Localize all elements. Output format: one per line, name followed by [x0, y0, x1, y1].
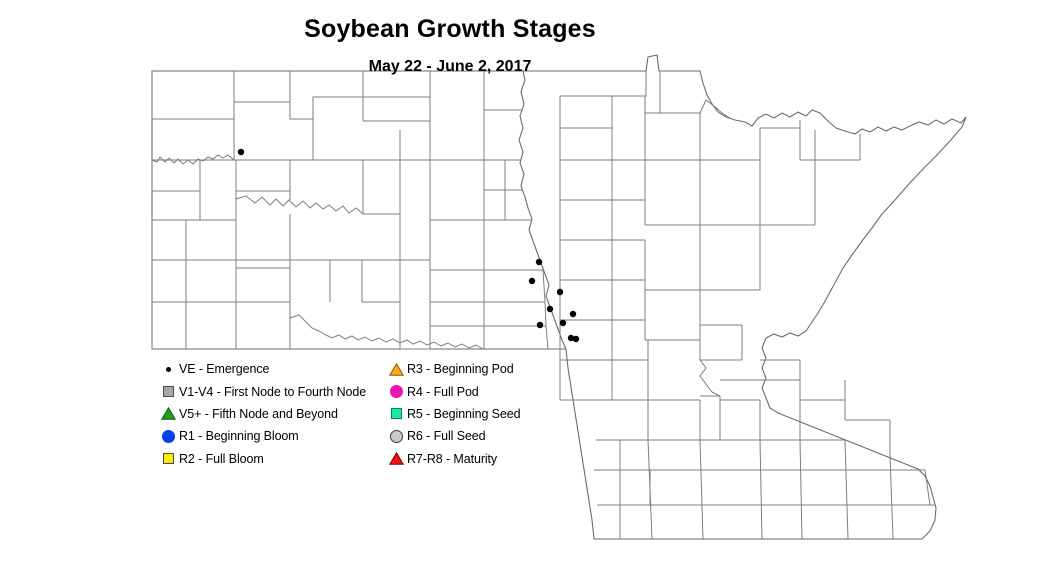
legend-item-label: R7-R8 - Maturity — [407, 452, 497, 466]
legend-symbol-triangle — [389, 363, 404, 376]
legend-symbol-circle — [390, 430, 403, 443]
legend-symbol-triangle-icon — [385, 360, 407, 378]
map-data-point — [536, 259, 542, 265]
legend-symbol-circle — [390, 385, 403, 398]
legend-symbol-dot-icon — [157, 360, 179, 378]
legend-item-label: R5 - Beginning Seed — [407, 407, 520, 421]
legend-item-label: VE - Emergence — [179, 362, 269, 376]
map-data-point — [547, 306, 553, 312]
map-data-point — [529, 278, 535, 284]
page-root: Soybean Growth Stages May 22 - June 2, 2… — [0, 0, 1057, 562]
legend-item-label: V5+ - Fifth Node and Beyond — [179, 407, 338, 421]
legend-item: V1-V4 - First Node to Fourth Node — [157, 380, 382, 402]
legend-symbol-square — [391, 408, 402, 419]
legend-symbol-circle-icon — [385, 427, 407, 445]
map-data-point — [573, 336, 579, 342]
legend-symbol-square-icon — [157, 450, 179, 468]
legend-item-label: R4 - Full Pod — [407, 385, 479, 399]
legend-symbol-square-icon — [157, 383, 179, 401]
legend-symbol-circle — [162, 430, 175, 443]
legend-symbol-triangle-icon — [157, 405, 179, 423]
legend-item-label: V1-V4 - First Node to Fourth Node — [179, 385, 366, 399]
legend-symbol-circle-icon — [157, 427, 179, 445]
legend-item: R5 - Beginning Seed — [385, 403, 575, 425]
legend-item: R6 - Full Seed — [385, 425, 575, 447]
legend-symbol-triangle-icon — [385, 450, 407, 468]
page-subtitle: May 22 - June 2, 2017 — [0, 57, 900, 77]
legend-column-left: VE - EmergenceV1-V4 - First Node to Four… — [157, 358, 382, 470]
legend: VE - EmergenceV1-V4 - First Node to Four… — [157, 358, 577, 470]
legend-item-label: R3 - Beginning Pod — [407, 362, 514, 376]
legend-symbol-triangle — [389, 452, 404, 465]
county-map — [0, 0, 1057, 562]
legend-symbol-circle-icon — [385, 383, 407, 401]
legend-item: R7-R8 - Maturity — [385, 448, 575, 470]
map-data-point — [238, 149, 244, 155]
page-title: Soybean Growth Stages — [0, 14, 900, 44]
legend-item: R1 - Beginning Bloom — [157, 425, 382, 447]
map-container — [0, 0, 1057, 562]
legend-item-label: R1 - Beginning Bloom — [179, 429, 299, 443]
map-data-point — [560, 320, 566, 326]
legend-item: R2 - Full Bloom — [157, 448, 382, 470]
legend-item: VE - Emergence — [157, 358, 382, 380]
legend-symbol-dot — [166, 367, 171, 372]
map-data-point — [537, 322, 543, 328]
legend-item: V5+ - Fifth Node and Beyond — [157, 403, 382, 425]
legend-symbol-triangle — [161, 407, 176, 420]
legend-item-label: R6 - Full Seed — [407, 429, 486, 443]
legend-item: R4 - Full Pod — [385, 380, 575, 402]
legend-column-right: R3 - Beginning PodR4 - Full PodR5 - Begi… — [385, 358, 575, 470]
legend-item-label: R2 - Full Bloom — [179, 452, 264, 466]
map-data-point — [570, 311, 576, 317]
legend-item: R3 - Beginning Pod — [385, 358, 575, 380]
legend-symbol-square — [163, 386, 174, 397]
legend-symbol-square — [163, 453, 174, 464]
map-data-point — [557, 289, 563, 295]
legend-symbol-square-icon — [385, 405, 407, 423]
